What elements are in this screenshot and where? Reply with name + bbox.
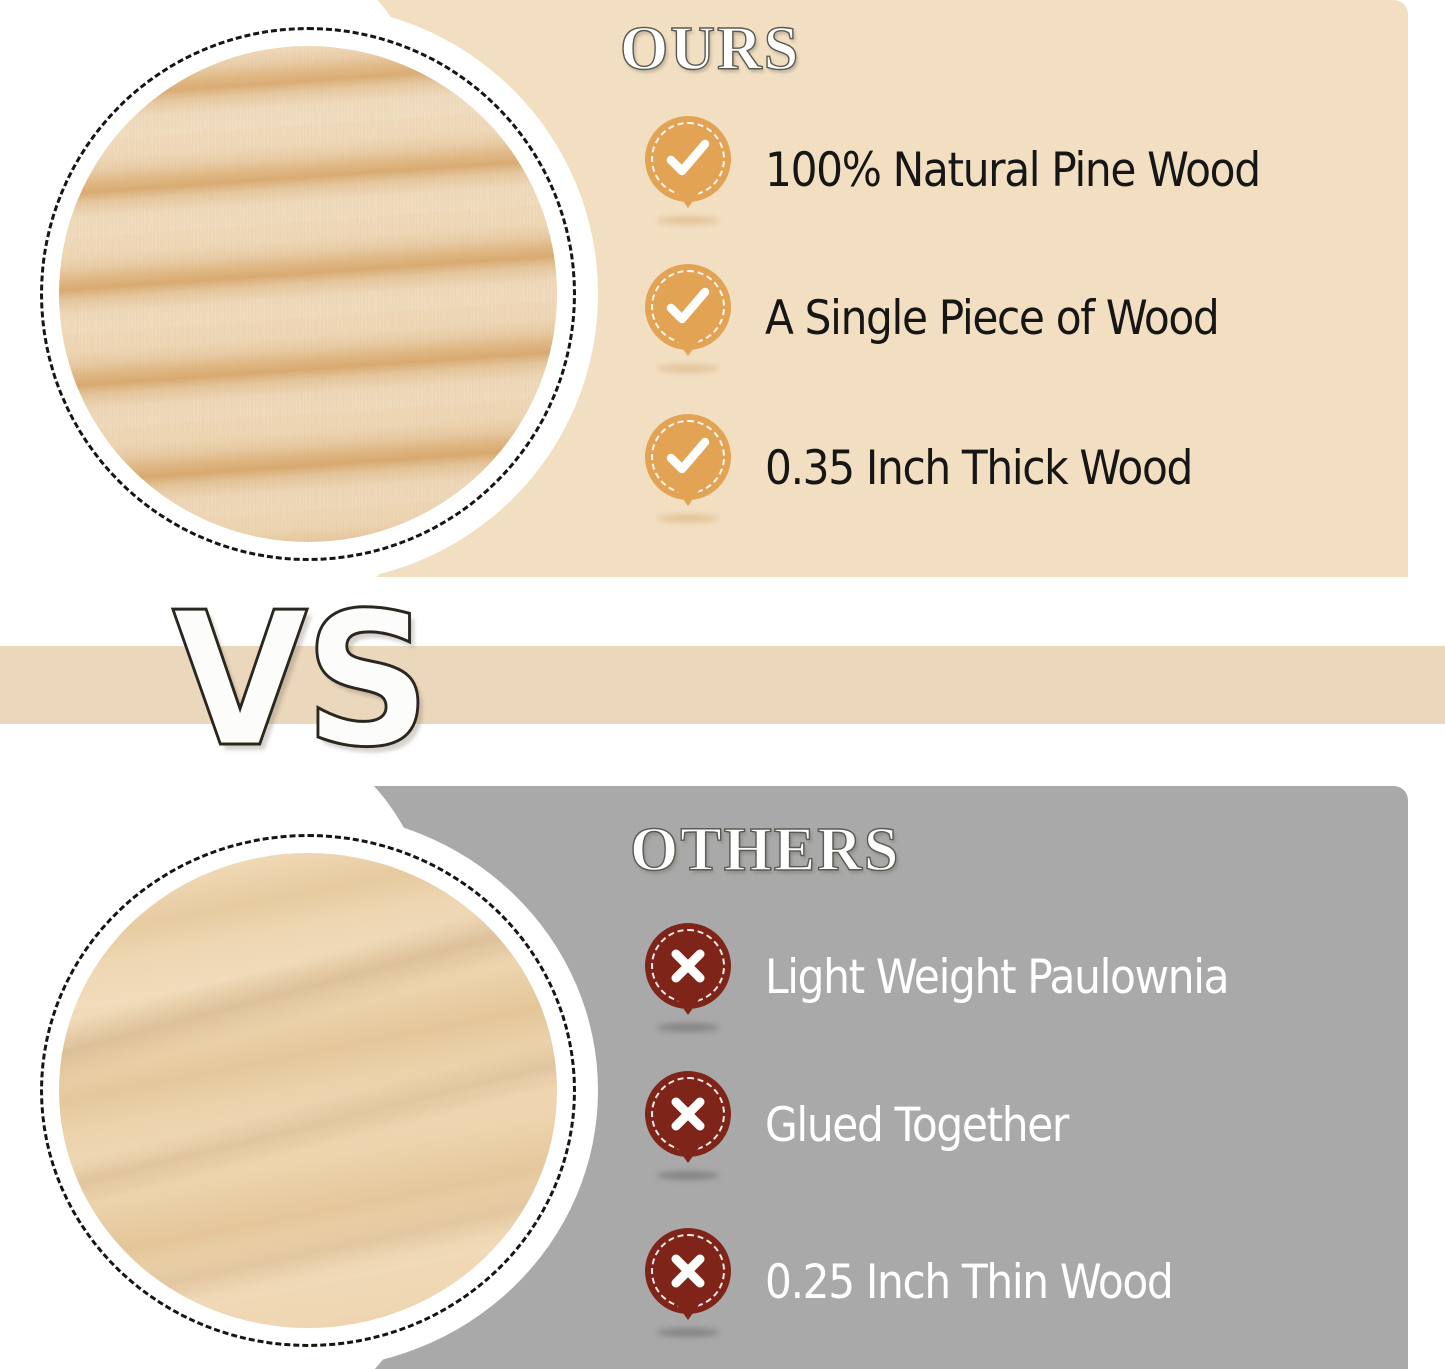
ours-feature-label: A Single Piece of Wood	[765, 291, 1218, 346]
check-icon	[645, 414, 731, 522]
cross-mark-glyph	[662, 1088, 714, 1140]
cross-icon	[645, 1071, 731, 1179]
check-mark-glyph	[662, 431, 714, 483]
ours-feature-item: 0.35 Inch Thick Wood	[645, 408, 1239, 528]
circle-dashed-border	[40, 27, 576, 561]
check-icon-shadow	[657, 216, 719, 225]
cross-icon-tail	[671, 1296, 705, 1320]
check-mark-glyph	[662, 281, 714, 333]
check-icon-tail	[671, 482, 705, 506]
cross-icon	[645, 923, 731, 1031]
cross-icon-tail	[671, 991, 705, 1015]
others-feature-item: 0.25 Inch Thin Wood	[645, 1222, 1218, 1342]
ours-feature-label: 100% Natural Pine Wood	[765, 143, 1260, 198]
cross-mark-glyph	[662, 940, 714, 992]
others-product-image	[18, 812, 598, 1369]
others-feature-item: Light Weight Paulownia	[645, 917, 1280, 1037]
check-icon-shadow	[657, 364, 719, 373]
cross-icon-tail	[671, 1139, 705, 1163]
ours-feature-item: A Single Piece of Wood	[645, 258, 1269, 378]
ours-section-title: OURS	[620, 14, 800, 85]
circle-dashed-border	[40, 834, 576, 1347]
others-feature-label: Light Weight Paulownia	[765, 950, 1228, 1005]
others-feature-item: Glued Together	[645, 1065, 1102, 1185]
ours-feature-label: 0.35 Inch Thick Wood	[765, 441, 1192, 496]
others-feature-label: 0.25 Inch Thin Wood	[765, 1255, 1172, 1310]
check-icon-shadow	[657, 514, 719, 523]
cross-icon-shadow	[657, 1023, 719, 1032]
cross-icon-shadow	[657, 1171, 719, 1180]
cross-icon-shadow	[657, 1328, 719, 1337]
check-icon	[645, 264, 731, 372]
check-icon-tail	[671, 332, 705, 356]
comparison-infographic: OURS 100% Natural Pine Wood	[0, 0, 1445, 1369]
vs-label: VS	[172, 588, 427, 773]
ours-product-image	[18, 5, 598, 583]
check-icon-tail	[671, 184, 705, 208]
check-mark-glyph	[662, 133, 714, 185]
cross-icon	[645, 1228, 731, 1336]
ours-feature-item: 100% Natural Pine Wood	[645, 110, 1315, 230]
cross-mark-glyph	[662, 1245, 714, 1297]
others-feature-label: Glued Together	[765, 1098, 1068, 1153]
check-icon	[645, 116, 731, 224]
others-section-title: OTHERS	[630, 815, 900, 886]
